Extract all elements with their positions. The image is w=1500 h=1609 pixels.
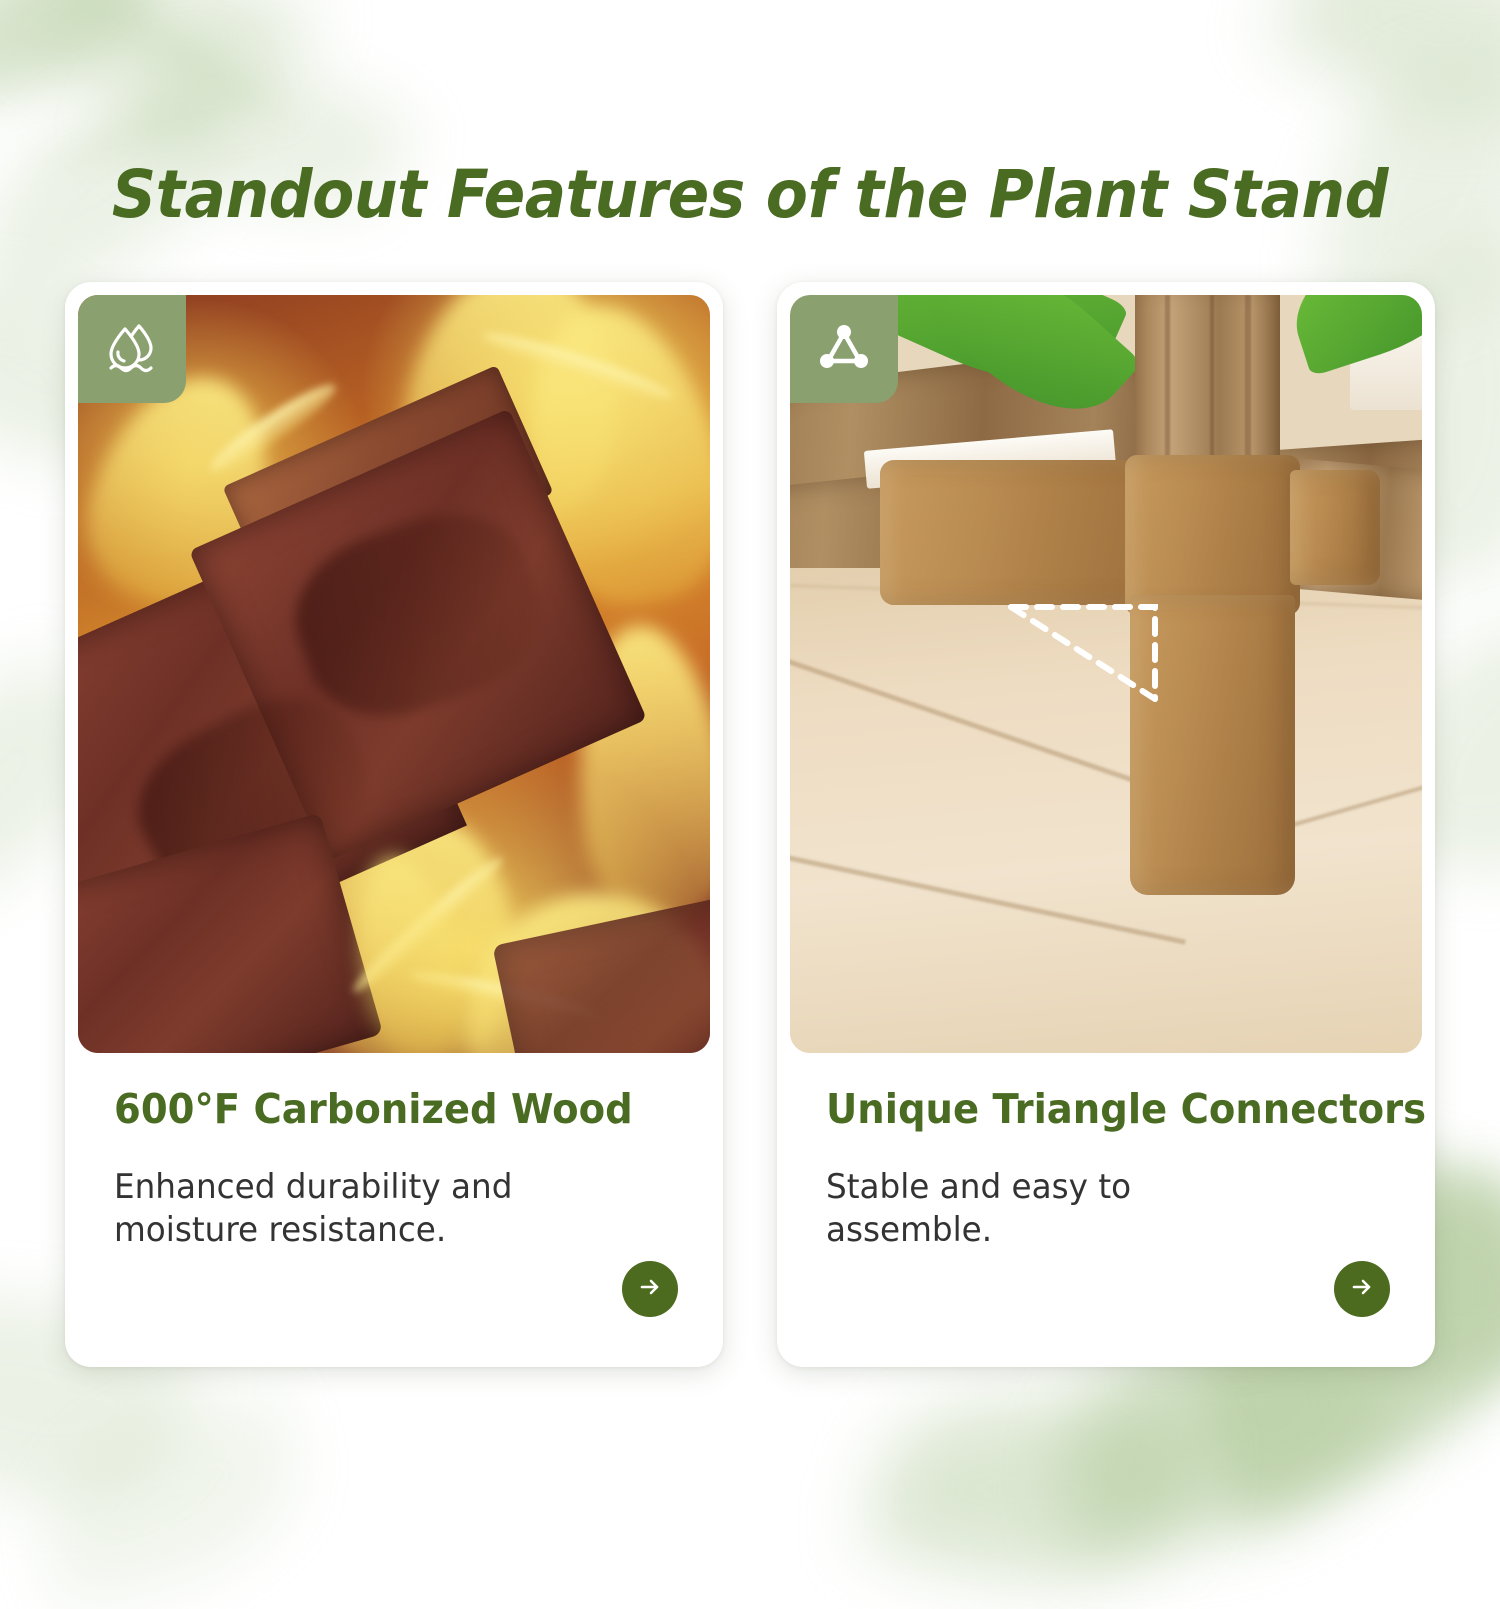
card-description: Enhanced durability and moisture resista…: [114, 1166, 565, 1252]
card-heading: 600°F Carbonized Wood: [114, 1087, 649, 1132]
feature-cards-row: 600°F Carbonized Wood Enhanced durabilit…: [65, 282, 1435, 1367]
triangle-connector-icon: [813, 316, 875, 383]
page-title: Standout Features of the Plant Stand: [53, 156, 1448, 233]
leaf-decor: [1265, 0, 1500, 161]
arrow-right-icon: [635, 1272, 665, 1307]
arrow-right-button[interactable]: [622, 1261, 678, 1317]
card-image-connector: [790, 295, 1422, 1053]
leaf-decor: [865, 1371, 1196, 1609]
arrow-right-button[interactable]: [1334, 1261, 1390, 1317]
connector-right-stub: [1290, 470, 1380, 585]
feature-card-carbonized-wood[interactable]: 600°F Carbonized Wood Enhanced durabilit…: [65, 282, 723, 1367]
badge-triangle-connector: [790, 295, 898, 403]
card-text-block: 600°F Carbonized Wood Enhanced durabilit…: [114, 1087, 683, 1252]
feature-card-triangle-connectors[interactable]: Unique Triangle Connectors Stable and ea…: [777, 282, 1435, 1367]
card-text-block: Unique Triangle Connectors Stable and ea…: [826, 1087, 1395, 1252]
arrow-right-icon: [1347, 1272, 1377, 1307]
card-image-burning-wood: [78, 295, 710, 1053]
stem-decor: [12, 0, 298, 129]
leaf-decor: [29, 0, 310, 120]
badge-water-resistance: [78, 295, 186, 403]
leaf-decor: [0, 0, 174, 112]
card-heading: Unique Triangle Connectors: [826, 1087, 1361, 1132]
connector-collar: [1125, 455, 1300, 615]
dashed-triangle-annotation: [1005, 595, 1165, 705]
fire-artwork: [78, 295, 710, 1053]
water-drop-resistance-icon: [101, 316, 163, 383]
card-description: Stable and easy to assemble.: [826, 1166, 1277, 1252]
connector-artwork: [790, 295, 1422, 1053]
